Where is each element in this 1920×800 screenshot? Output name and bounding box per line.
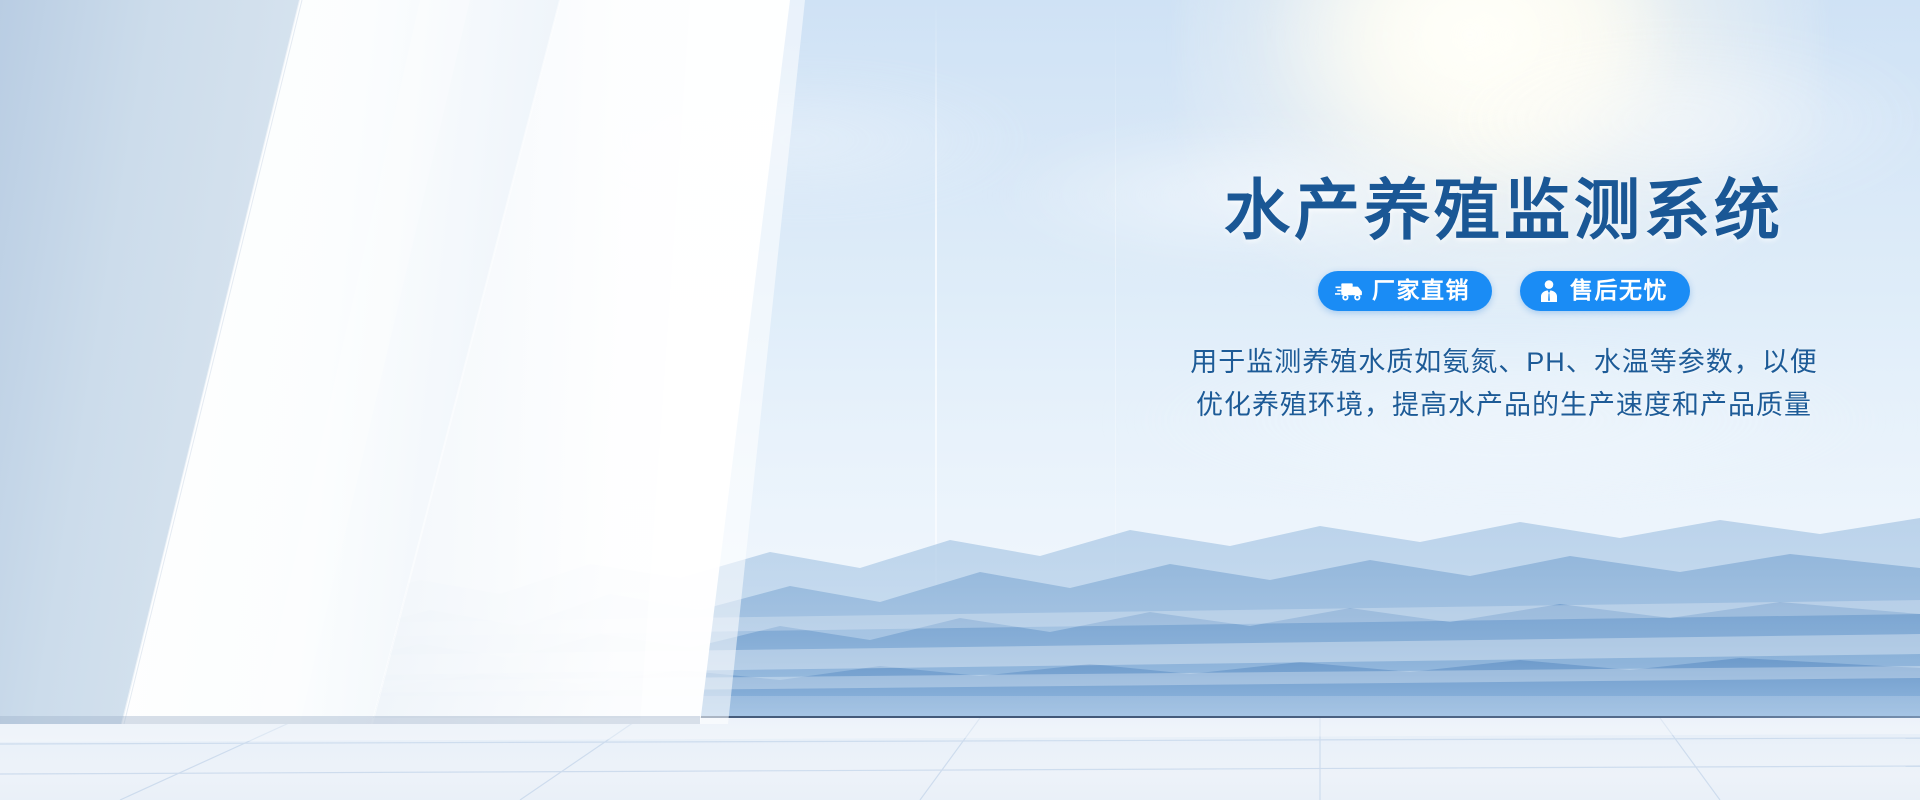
badge-after-sales[interactable]: 售后无忧 <box>1520 271 1690 311</box>
badge-label: 售后无忧 <box>1570 279 1668 302</box>
hero-banner: 水产养殖监测系统 厂家直销 <box>0 0 1920 800</box>
badge-group: 厂家直销 售后无忧 <box>1144 271 1864 311</box>
plaza-floor <box>0 718 1920 800</box>
description-line: 用于监测养殖水质如氨氮、PH、水温等参数，以便 <box>1144 341 1864 385</box>
truck-icon <box>1335 280 1363 302</box>
badge-label: 厂家直销 <box>1372 279 1470 302</box>
description-line: 优化养殖环境，提高水产品的生产速度和产品质量 <box>1144 384 1864 428</box>
page-description: 用于监测养殖水质如氨氮、PH、水温等参数，以便 优化养殖环境，提高水产品的生产速… <box>1144 341 1864 428</box>
support-agent-icon <box>1537 279 1561 303</box>
hero-content: 水产养殖监测系统 厂家直销 <box>1144 176 1864 428</box>
page-title: 水产养殖监测系统 <box>1144 176 1864 245</box>
badge-factory-direct[interactable]: 厂家直销 <box>1318 271 1492 311</box>
architecture-wall <box>0 0 960 724</box>
